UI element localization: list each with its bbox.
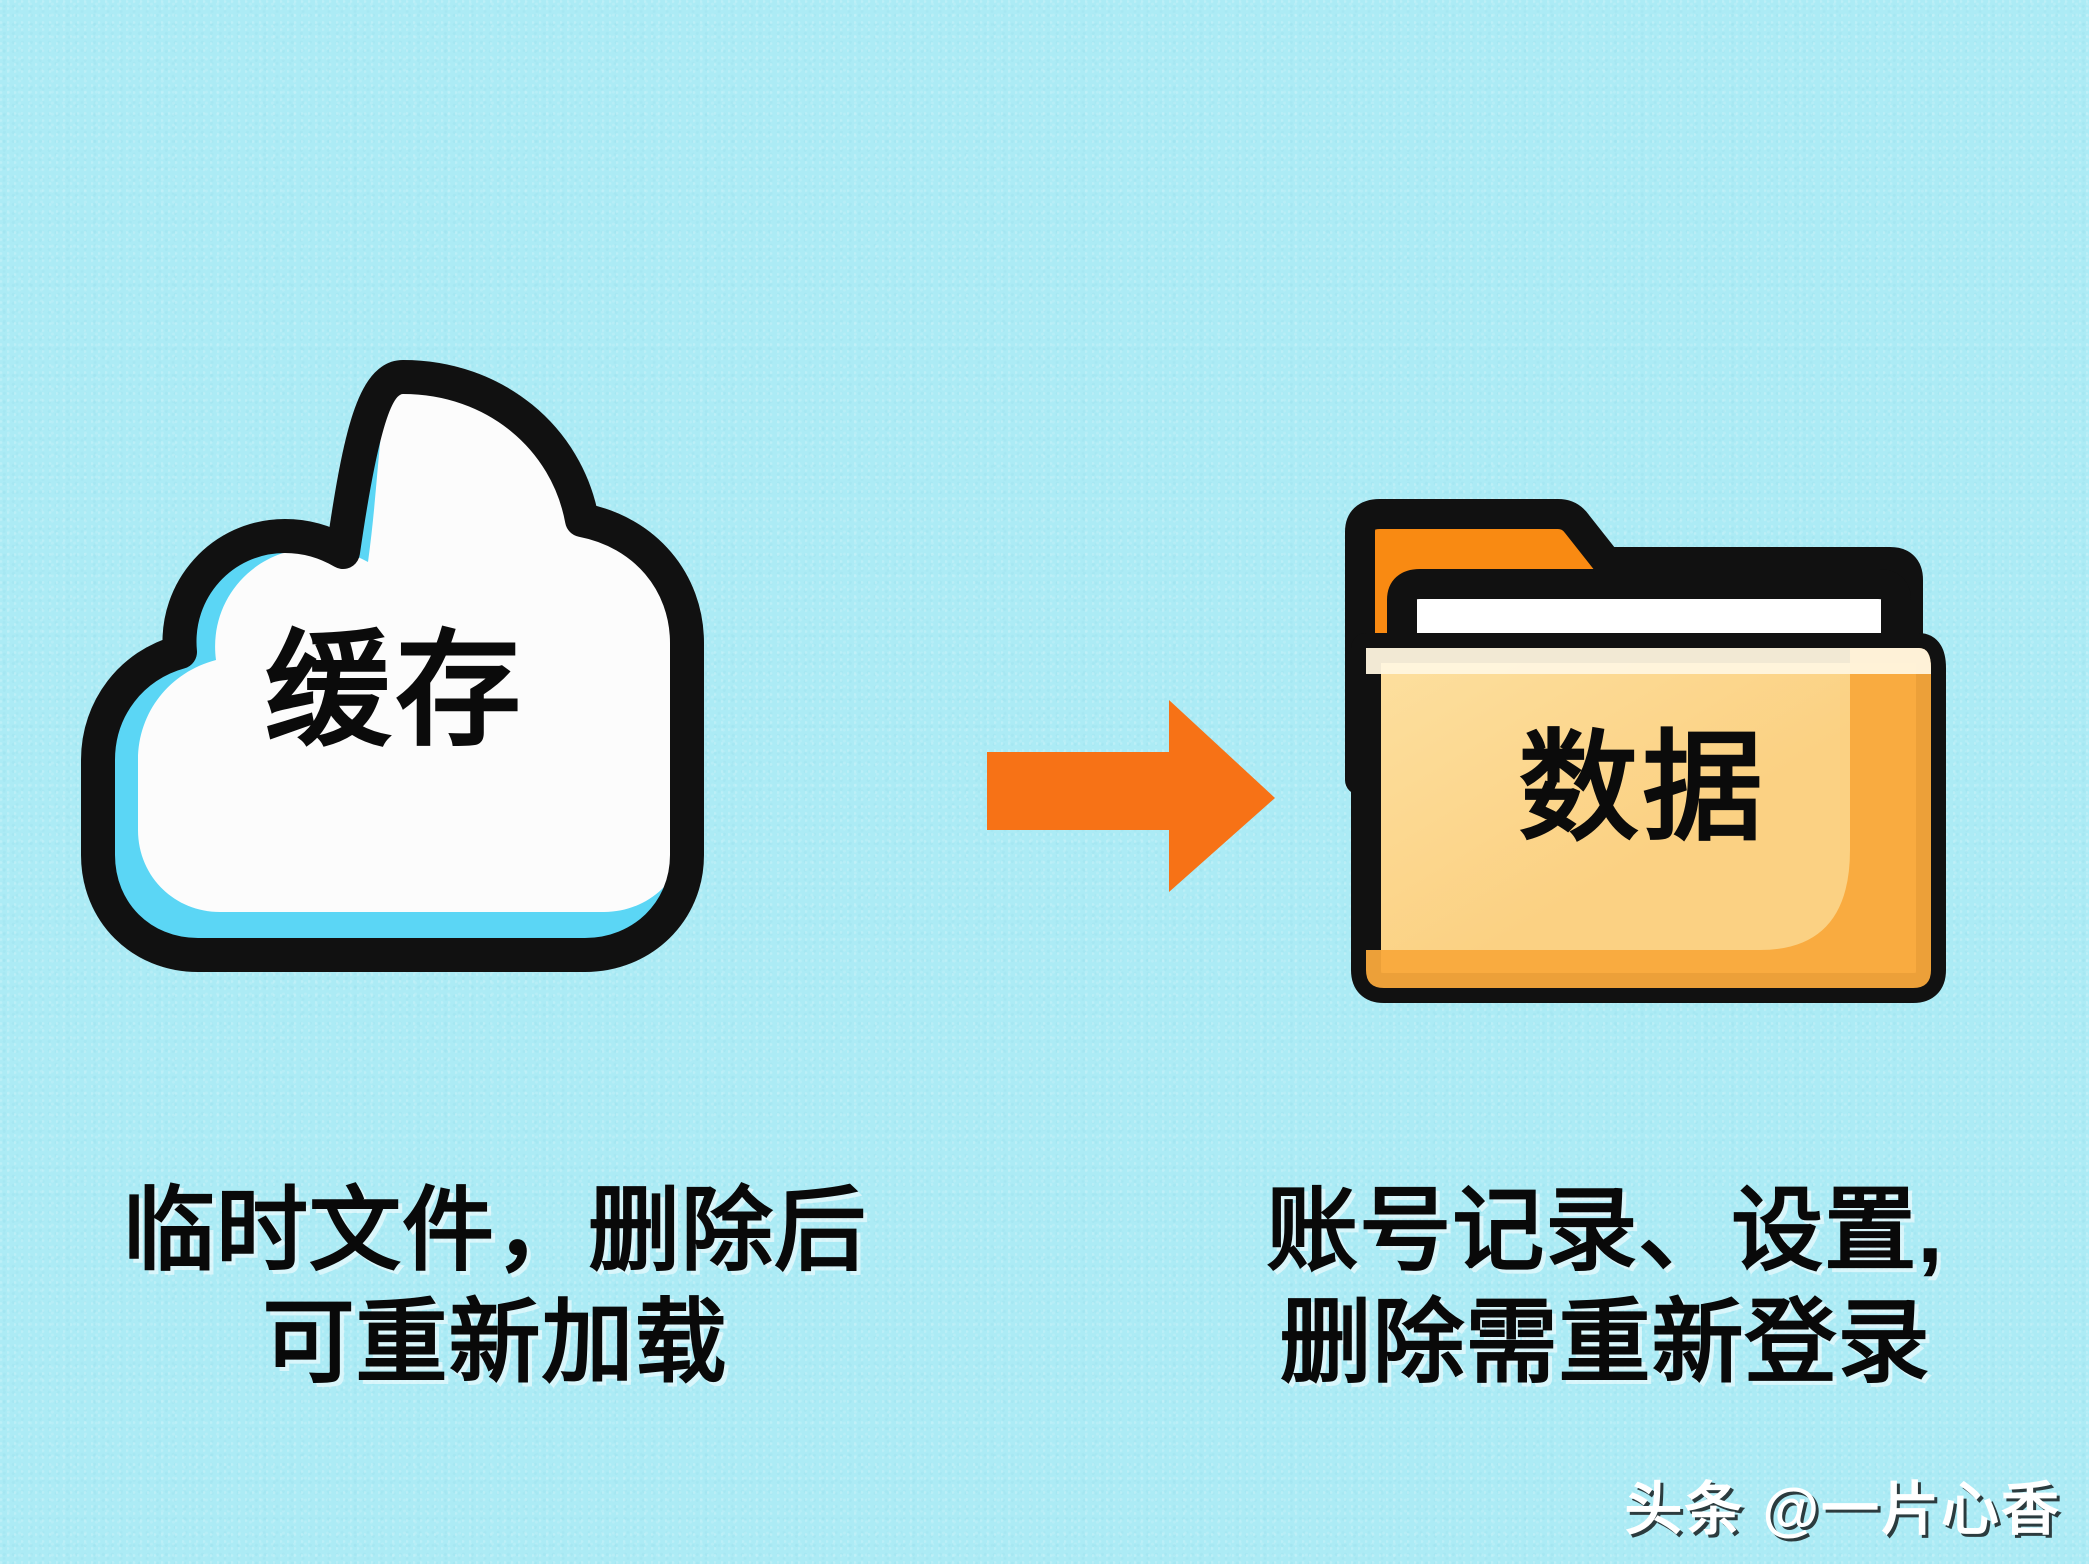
- cloud-graphic: 缓存: [70, 360, 720, 1020]
- caption-left-line-1: 临时文件，删除后: [30, 1175, 960, 1287]
- caption-right-line-2: 删除需重新登录: [1140, 1287, 2070, 1399]
- caption-left-line-2: 可重新加载: [30, 1287, 960, 1399]
- caption-right-line-1: 账号记录、设置,: [1140, 1175, 2070, 1287]
- folder-label: 数据: [1330, 728, 1955, 848]
- folder-graphic: 数据: [1330, 480, 1955, 1010]
- caption-right: 账号记录、设置, 删除需重新登录: [1140, 1175, 2070, 1399]
- infographic-canvas: 缓存: [0, 0, 2089, 1564]
- transition-arrow: [965, 690, 1295, 910]
- caption-left: 临时文件，删除后 可重新加载: [30, 1175, 960, 1399]
- watermark-text: 头条 @一片心香: [1624, 1462, 2061, 1546]
- cloud-label: 缓存: [70, 628, 720, 754]
- arrow-right-icon: [965, 690, 1295, 910]
